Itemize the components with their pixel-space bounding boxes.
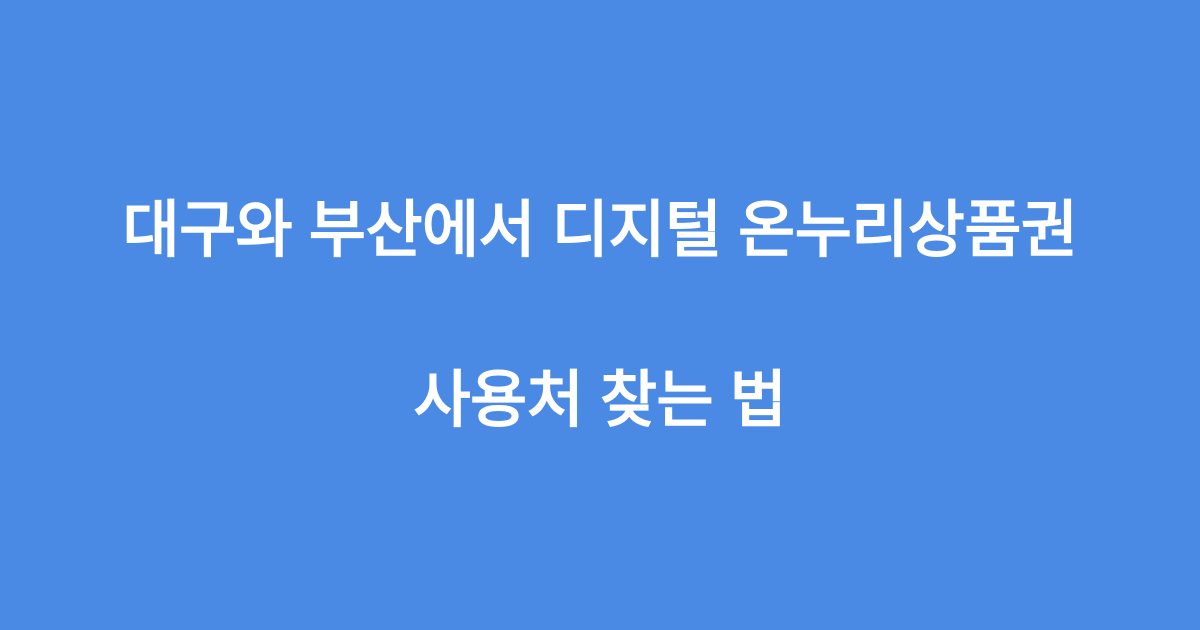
- banner-title-line-2: 사용처 찾는 법: [40, 358, 1160, 443]
- banner-title: 대구와 부산에서 디지털 온누리상품권 사용처 찾는 법: [40, 103, 1160, 528]
- article-share-banner: 대구와 부산에서 디지털 온누리상품권 사용처 찾는 법: [0, 0, 1200, 630]
- banner-title-line-1: 대구와 부산에서 디지털 온누리상품권: [40, 188, 1160, 273]
